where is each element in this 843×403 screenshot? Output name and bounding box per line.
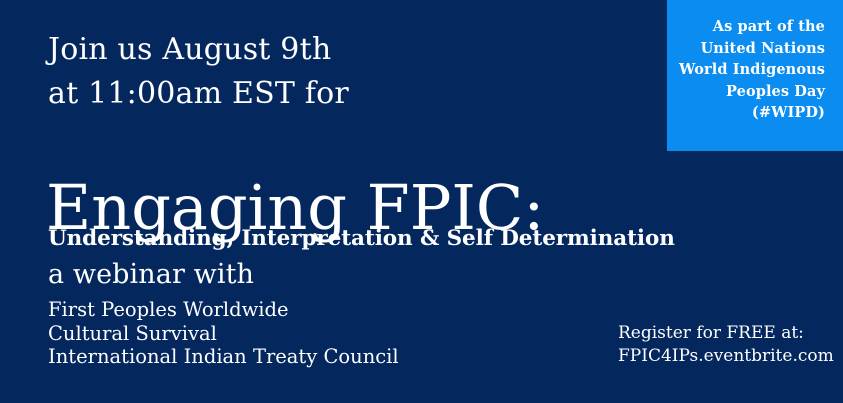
registration-info: Register for FREE at: FPIC4IPs.eventbrit… bbox=[618, 322, 834, 368]
event-date-line: Join us August 9th bbox=[48, 28, 349, 72]
webinar-flyer: As part of the United Nations World Indi… bbox=[0, 0, 843, 403]
list-item: International Indian Treaty Council bbox=[48, 345, 399, 369]
list-item: First Peoples Worldwide bbox=[48, 298, 399, 322]
register-label: Register for FREE at: bbox=[618, 322, 834, 345]
webinar-with-label: a webinar with bbox=[48, 258, 254, 292]
flyer-content: Join us August 9th at 11:00am EST for En… bbox=[48, 0, 843, 403]
list-item: Cultural Survival bbox=[48, 322, 399, 346]
organizer-list: First Peoples Worldwide Cultural Surviva… bbox=[48, 298, 399, 369]
event-time-line: at 11:00am EST for bbox=[48, 72, 349, 116]
register-url[interactable]: FPIC4IPs.eventbrite.com bbox=[618, 345, 834, 368]
page-subtitle: Understanding, Interpretation & Self Det… bbox=[48, 226, 675, 252]
event-datetime: Join us August 9th at 11:00am EST for bbox=[48, 28, 349, 116]
